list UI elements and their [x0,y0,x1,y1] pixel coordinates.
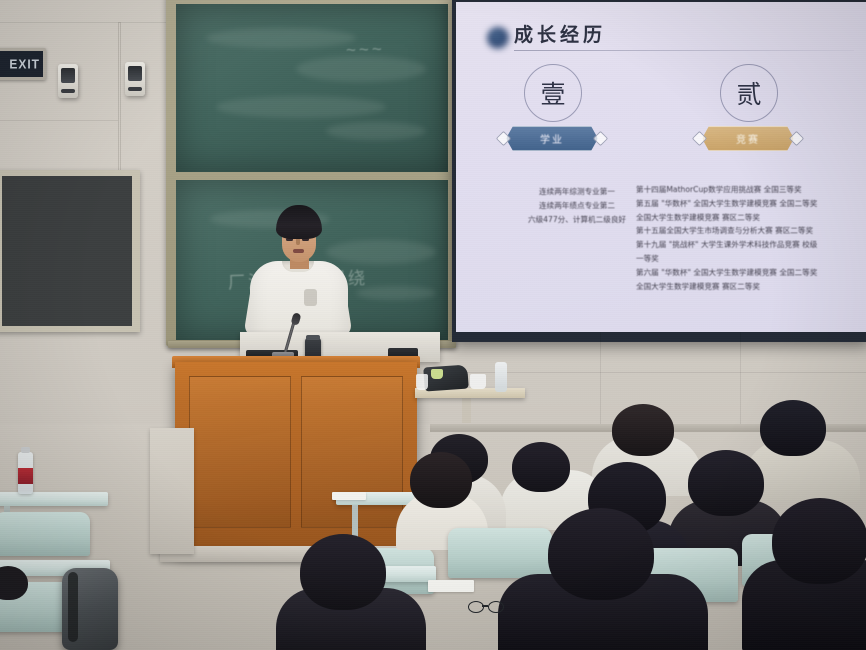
ribbon-knot-left-icon [496,131,512,147]
wall-speaker [58,64,78,98]
student-head [548,508,654,600]
eyeglasses [468,601,502,611]
paper-sheet [332,492,366,500]
presenter-shirt-logo [304,289,317,306]
speaker-grille [61,89,75,93]
water-bottle [495,362,507,392]
ribbon-label-1: 学业 [540,131,564,146]
student-desk [0,492,108,506]
lectern-panel [189,376,291,528]
section-number-2: 贰 [736,75,761,111]
backpack [62,568,118,650]
section-number-badge-1: 壹 [524,64,582,122]
wooden-lectern [175,362,417,554]
glasses-lens [468,601,484,613]
competition-line: 第十五届全国大学生市场调查与分析大赛 赛区二等奖 [636,225,861,237]
wall-speaker [125,62,145,96]
ribbon-knot-left-icon [692,131,708,147]
exit-sign-label: EXIT [9,56,43,71]
presenter-nose [296,238,300,245]
side-board [0,170,140,332]
platform-side [150,428,194,554]
speaker-lens-icon [128,66,142,81]
speaker-grille [128,87,142,91]
slide-bullet-dot-icon [487,27,509,49]
chalkboard-upper: ~~~ [176,4,448,172]
academics-line: 六级477分、计算机二级良好 [502,214,652,226]
presentation-slide: 成长经历 壹 学业 贰 竞赛 连续两年综测专业第一 连续两年绩点专业第二 六级4… [456,2,866,332]
slide-title-rule [514,50,854,51]
ribbon-knot-right-icon [789,131,805,147]
paper-cup [470,374,486,389]
speaker-lens-icon [61,68,75,83]
student-head [760,400,826,456]
student-seat [448,528,552,578]
wall-panel-edge [118,22,121,184]
competition-line: 一等奖 [636,253,861,265]
paper-sheet [428,580,474,592]
section-number-badge-2: 贰 [720,64,778,122]
bottle-label [18,468,33,484]
competition-line: 第六届 "华数杯" 全国大学生数学建模竞赛 全国二等奖 [636,267,861,279]
student-head [410,452,472,508]
competition-line: 全国大学生数学建模竞赛 赛区二等奖 [636,281,861,293]
student-head [512,442,570,492]
competition-line: 第十四届MathorCup数学应用挑战赛 全国三等奖 [636,184,861,196]
classroom-photo: EXIT ~~~ 厂汁仁全宣门绕 成长经历 壹 [0,0,866,650]
section-number-1: 壹 [540,75,565,111]
exit-sign: EXIT [0,48,46,80]
presenter-hair [276,205,322,239]
water-bottle [18,452,33,494]
student-head [612,404,674,456]
section-ribbon-2: 竞赛 [694,126,802,151]
competition-line: 全国大学生数学建模竞赛 赛区二等奖 [636,212,861,224]
student-head [300,534,386,610]
student-head [772,498,866,584]
slide-title: 成长经历 [514,20,606,47]
ribbon-label-2: 竞赛 [736,131,760,146]
student-head [688,450,764,516]
side-table-leg [462,397,471,423]
presenter-mouth [293,249,304,253]
student-seat [0,512,90,556]
ribbon-knot-right-icon [593,131,609,147]
academics-text-column: 连续两年综测专业第一 连续两年绩点专业第二 六级477分、计算机二级良好 [502,186,652,227]
academics-line: 连续两年绩点专业第二 [502,200,652,212]
green-item [431,369,443,379]
paper-cup [416,374,428,390]
section-ribbon-1: 学业 [498,126,606,151]
bottle-cap [21,447,30,453]
competitions-text-column: 第十四届MathorCup数学应用挑战赛 全国三等奖 第五届 "华数杯" 全国大… [636,184,861,294]
competition-line: 第五届 "华数杯" 全国大学生数学建模竞赛 全国二等奖 [636,198,861,210]
wall-seam [0,120,118,121]
wall-seam [740,332,741,424]
black-bag [423,364,469,391]
academics-line: 连续两年综测专业第一 [502,186,652,198]
competition-line: 第十九届 "挑战杯" 大学生课外学术科技作品竞赛 校级 [636,239,861,251]
glasses-lens [488,601,504,613]
wall-seam [600,332,601,424]
